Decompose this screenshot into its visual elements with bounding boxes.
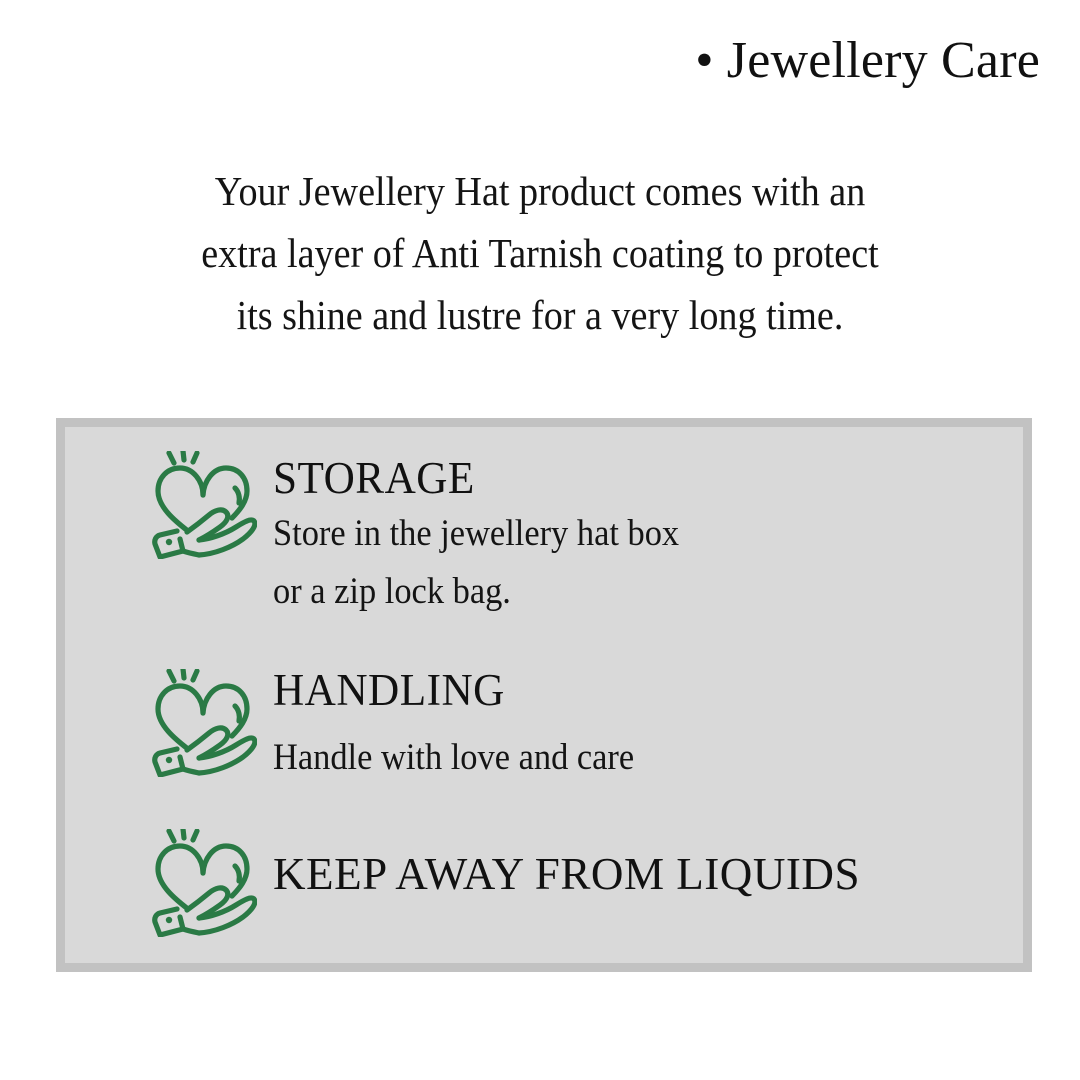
care-item-storage-texts: STORAGE Store in the jewellery hat box o… xyxy=(257,451,710,621)
hand-holding-heart-icon xyxy=(147,825,257,937)
care-item-storage: STORAGE Store in the jewellery hat box o… xyxy=(147,451,710,621)
care-rows: STORAGE Store in the jewellery hat box o… xyxy=(65,427,1023,963)
page-title: • Jewellery Care xyxy=(695,32,1040,89)
care-line-storage-2: or a zip lock bag. xyxy=(273,563,679,621)
care-item-liquids: KEEP AWAY FROM LIQUIDS xyxy=(147,825,872,937)
care-line-handling-1: Handle with love and care xyxy=(273,729,634,787)
care-item-handling-texts: HANDLING Handle with love and care xyxy=(257,663,661,787)
intro-line-1: Your Jewellery Hat product comes with an xyxy=(94,160,987,222)
jewellery-care-card: • Jewellery Care Your Jewellery Hat prod… xyxy=(0,0,1080,1080)
hand-holding-heart-icon xyxy=(147,663,257,777)
care-heading-storage: STORAGE xyxy=(273,451,692,505)
intro-paragraph: Your Jewellery Hat product comes with an… xyxy=(94,160,987,346)
care-heading-liquids: KEEP AWAY FROM LIQUIDS xyxy=(273,847,860,901)
hand-holding-heart-icon xyxy=(147,451,257,559)
care-item-handling: HANDLING Handle with love and care xyxy=(147,663,661,787)
care-line-storage-1: Store in the jewellery hat box xyxy=(273,505,679,563)
care-instructions-panel: STORAGE Store in the jewellery hat box o… xyxy=(56,418,1032,972)
intro-line-3: its shine and lustre for a very long tim… xyxy=(94,284,987,346)
care-heading-handling: HANDLING xyxy=(273,663,646,717)
intro-line-2: extra layer of Anti Tarnish coating to p… xyxy=(94,222,987,284)
care-item-liquids-texts: KEEP AWAY FROM LIQUIDS xyxy=(257,825,872,901)
